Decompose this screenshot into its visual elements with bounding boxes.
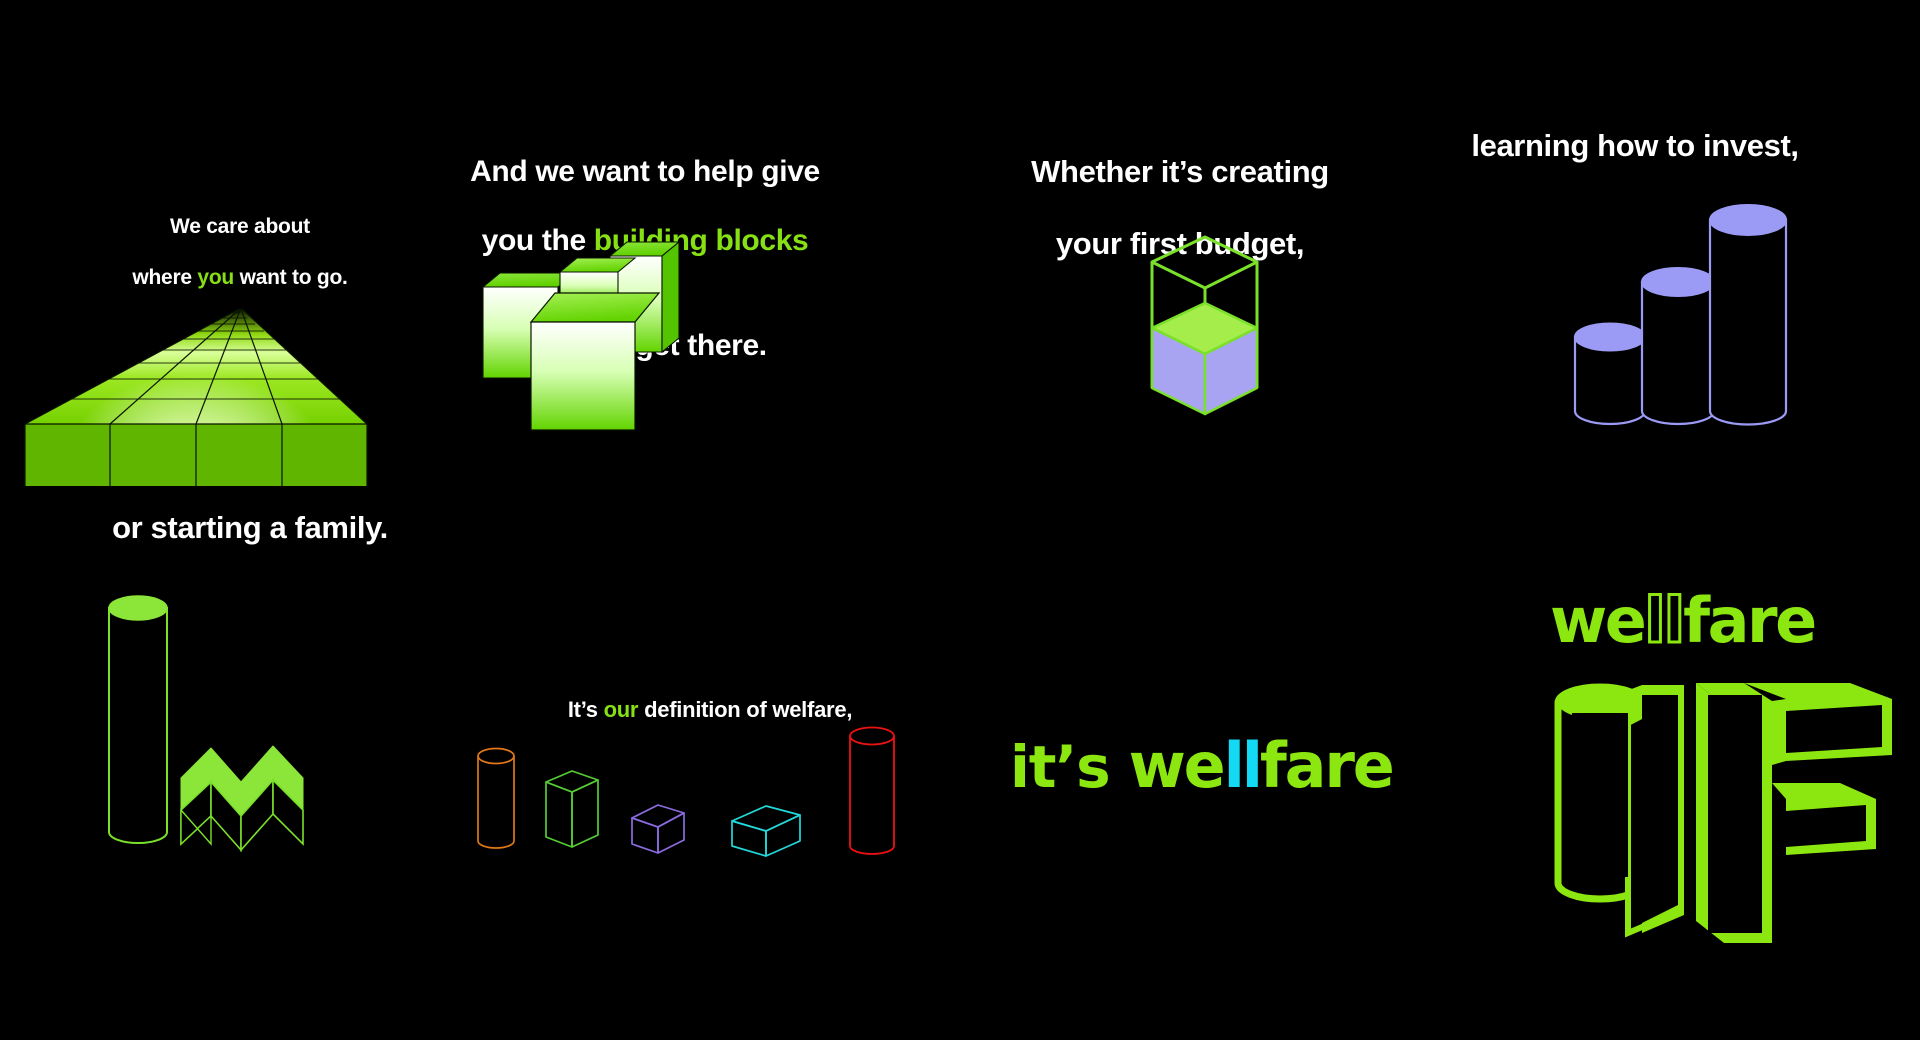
- panel-care-about: We care about where you want to go.: [0, 180, 480, 520]
- invest-cylinder-chart: [1420, 198, 1850, 458]
- budget-svg: [965, 228, 1395, 458]
- caption-line-1: And we want to help give: [470, 155, 820, 188]
- family-illustration: [35, 560, 465, 900]
- panel-learning-invest: learning how to invest,: [1420, 128, 1850, 478]
- mini-shape-purple-box: [632, 805, 684, 853]
- wordmark-brand-part2: fare: [1260, 729, 1393, 802]
- family-cylinder-top: [109, 596, 167, 620]
- panel-definition-welfare: It’s our definition of welfare,: [460, 670, 960, 900]
- perspective-road-illustration: [0, 250, 480, 520]
- mini-shapes-svg: [460, 720, 960, 900]
- invest-chart-svg: [1420, 198, 1850, 458]
- panel-first-budget: Whether it’s creating your first budget,: [965, 118, 1395, 468]
- slide-canvas: We care about where you want to go.: [0, 0, 1920, 1040]
- cylinder-bar-3: [1710, 205, 1786, 425]
- budget-container-illustration: [965, 228, 1395, 458]
- blocks-svg: [455, 230, 835, 460]
- budget-fill-volume: [1152, 303, 1257, 414]
- panel-brand-logo: wellfare: [1510, 590, 1910, 950]
- logotype-part1: we: [1550, 584, 1644, 657]
- cylinder-bar-1: [1575, 324, 1645, 425]
- panel-starting-family: or starting a family.: [35, 500, 465, 920]
- caption-definition-welfare: It’s our definition of welfare,: [460, 670, 960, 724]
- building-blocks-illustration: [455, 230, 835, 460]
- mini-shape-orange-cylinder: [478, 749, 514, 849]
- its-wellfare-wordmark: it’s wellfare: [1010, 735, 1410, 797]
- family-cylinder: [109, 596, 167, 843]
- cylinder-top-1: [1575, 324, 1645, 351]
- road-svg: [0, 250, 480, 520]
- hf-monogram-shapes: [1558, 683, 1892, 943]
- panel-its-wellfare-wordmark: it’s wellfare: [1010, 735, 1410, 845]
- caption-pre: It’s: [568, 697, 604, 722]
- caption-learning-invest: learning how to invest,: [1420, 128, 1850, 164]
- mini-shapes-chart: [460, 720, 960, 900]
- caption-line-1: Whether it’s creating: [1031, 154, 1329, 189]
- logotype-ll-outlined: ll: [1644, 584, 1683, 657]
- panel-building-blocks: And we want to help give you the buildin…: [455, 120, 835, 460]
- caption-highlight-our: our: [604, 697, 639, 722]
- wordmark-brand-ll: ll: [1224, 729, 1260, 802]
- family-zigzag: [181, 746, 303, 850]
- wordmark-prefix: it’s: [1010, 733, 1129, 801]
- mini-shape-cyan-box: [732, 806, 800, 856]
- caption-line-1: We care about: [170, 215, 310, 238]
- cylinder-top-3: [1710, 205, 1786, 235]
- caption-post: definition of welfare,: [638, 697, 852, 722]
- cylinder-bar-2: [1642, 268, 1714, 424]
- mini-shape-green-box: [546, 771, 598, 847]
- wellfare-logotype: wellfare: [1550, 590, 1815, 652]
- cylinder-top-2: [1642, 268, 1714, 296]
- caption-starting-family: or starting a family.: [35, 510, 465, 546]
- hf-monogram-mark: [1510, 665, 1910, 945]
- logotype-part2: fare: [1683, 584, 1815, 657]
- family-svg: [35, 560, 465, 900]
- hf-monogram-svg: [1510, 665, 1910, 945]
- cube-front: [531, 293, 659, 430]
- mini-shape-red-cylinder: [850, 728, 894, 855]
- wordmark-brand-part1: we: [1129, 729, 1224, 802]
